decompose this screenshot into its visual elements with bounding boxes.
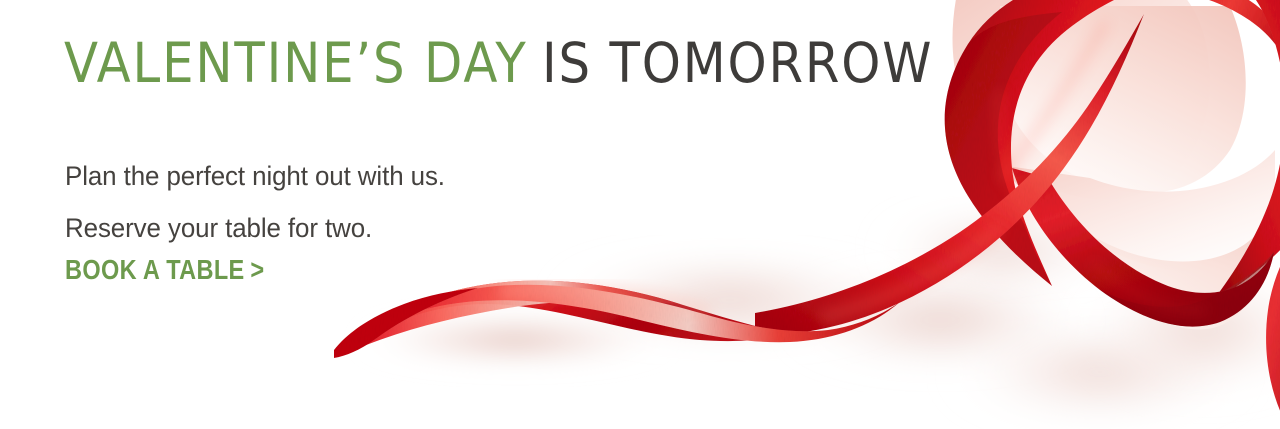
heart-center-twist — [1012, 168, 1274, 327]
page-title: VALENTINE’S DAYIS TOMORROW — [64, 36, 933, 91]
body-line-2: Reserve your table for two. — [65, 213, 372, 244]
headline-highlight: VALENTINE’S DAY — [64, 31, 528, 95]
body-line-1: Plan the perfect night out with us. — [65, 161, 445, 192]
cta-label: BOOK A TABLE — [65, 254, 245, 285]
heart-inner-surfaces — [953, 0, 1276, 330]
banner-text-content: VALENTINE’S DAYIS TOMORROW Plan the perf… — [64, 0, 964, 429]
heart-right-curl-tip — [1266, 76, 1280, 429]
book-a-table-link[interactable]: BOOK A TABLE> — [65, 254, 265, 286]
headline-rest: IS TOMORROW — [542, 31, 933, 95]
heart-right-lobe — [1212, 0, 1280, 302]
heart-left-lobe — [945, 0, 1166, 286]
chevron-right-icon: > — [250, 254, 264, 286]
valentines-promo-banner: VALENTINE’S DAYIS TOMORROW Plan the perf… — [0, 0, 1280, 429]
heart-top-band — [1126, 0, 1280, 110]
